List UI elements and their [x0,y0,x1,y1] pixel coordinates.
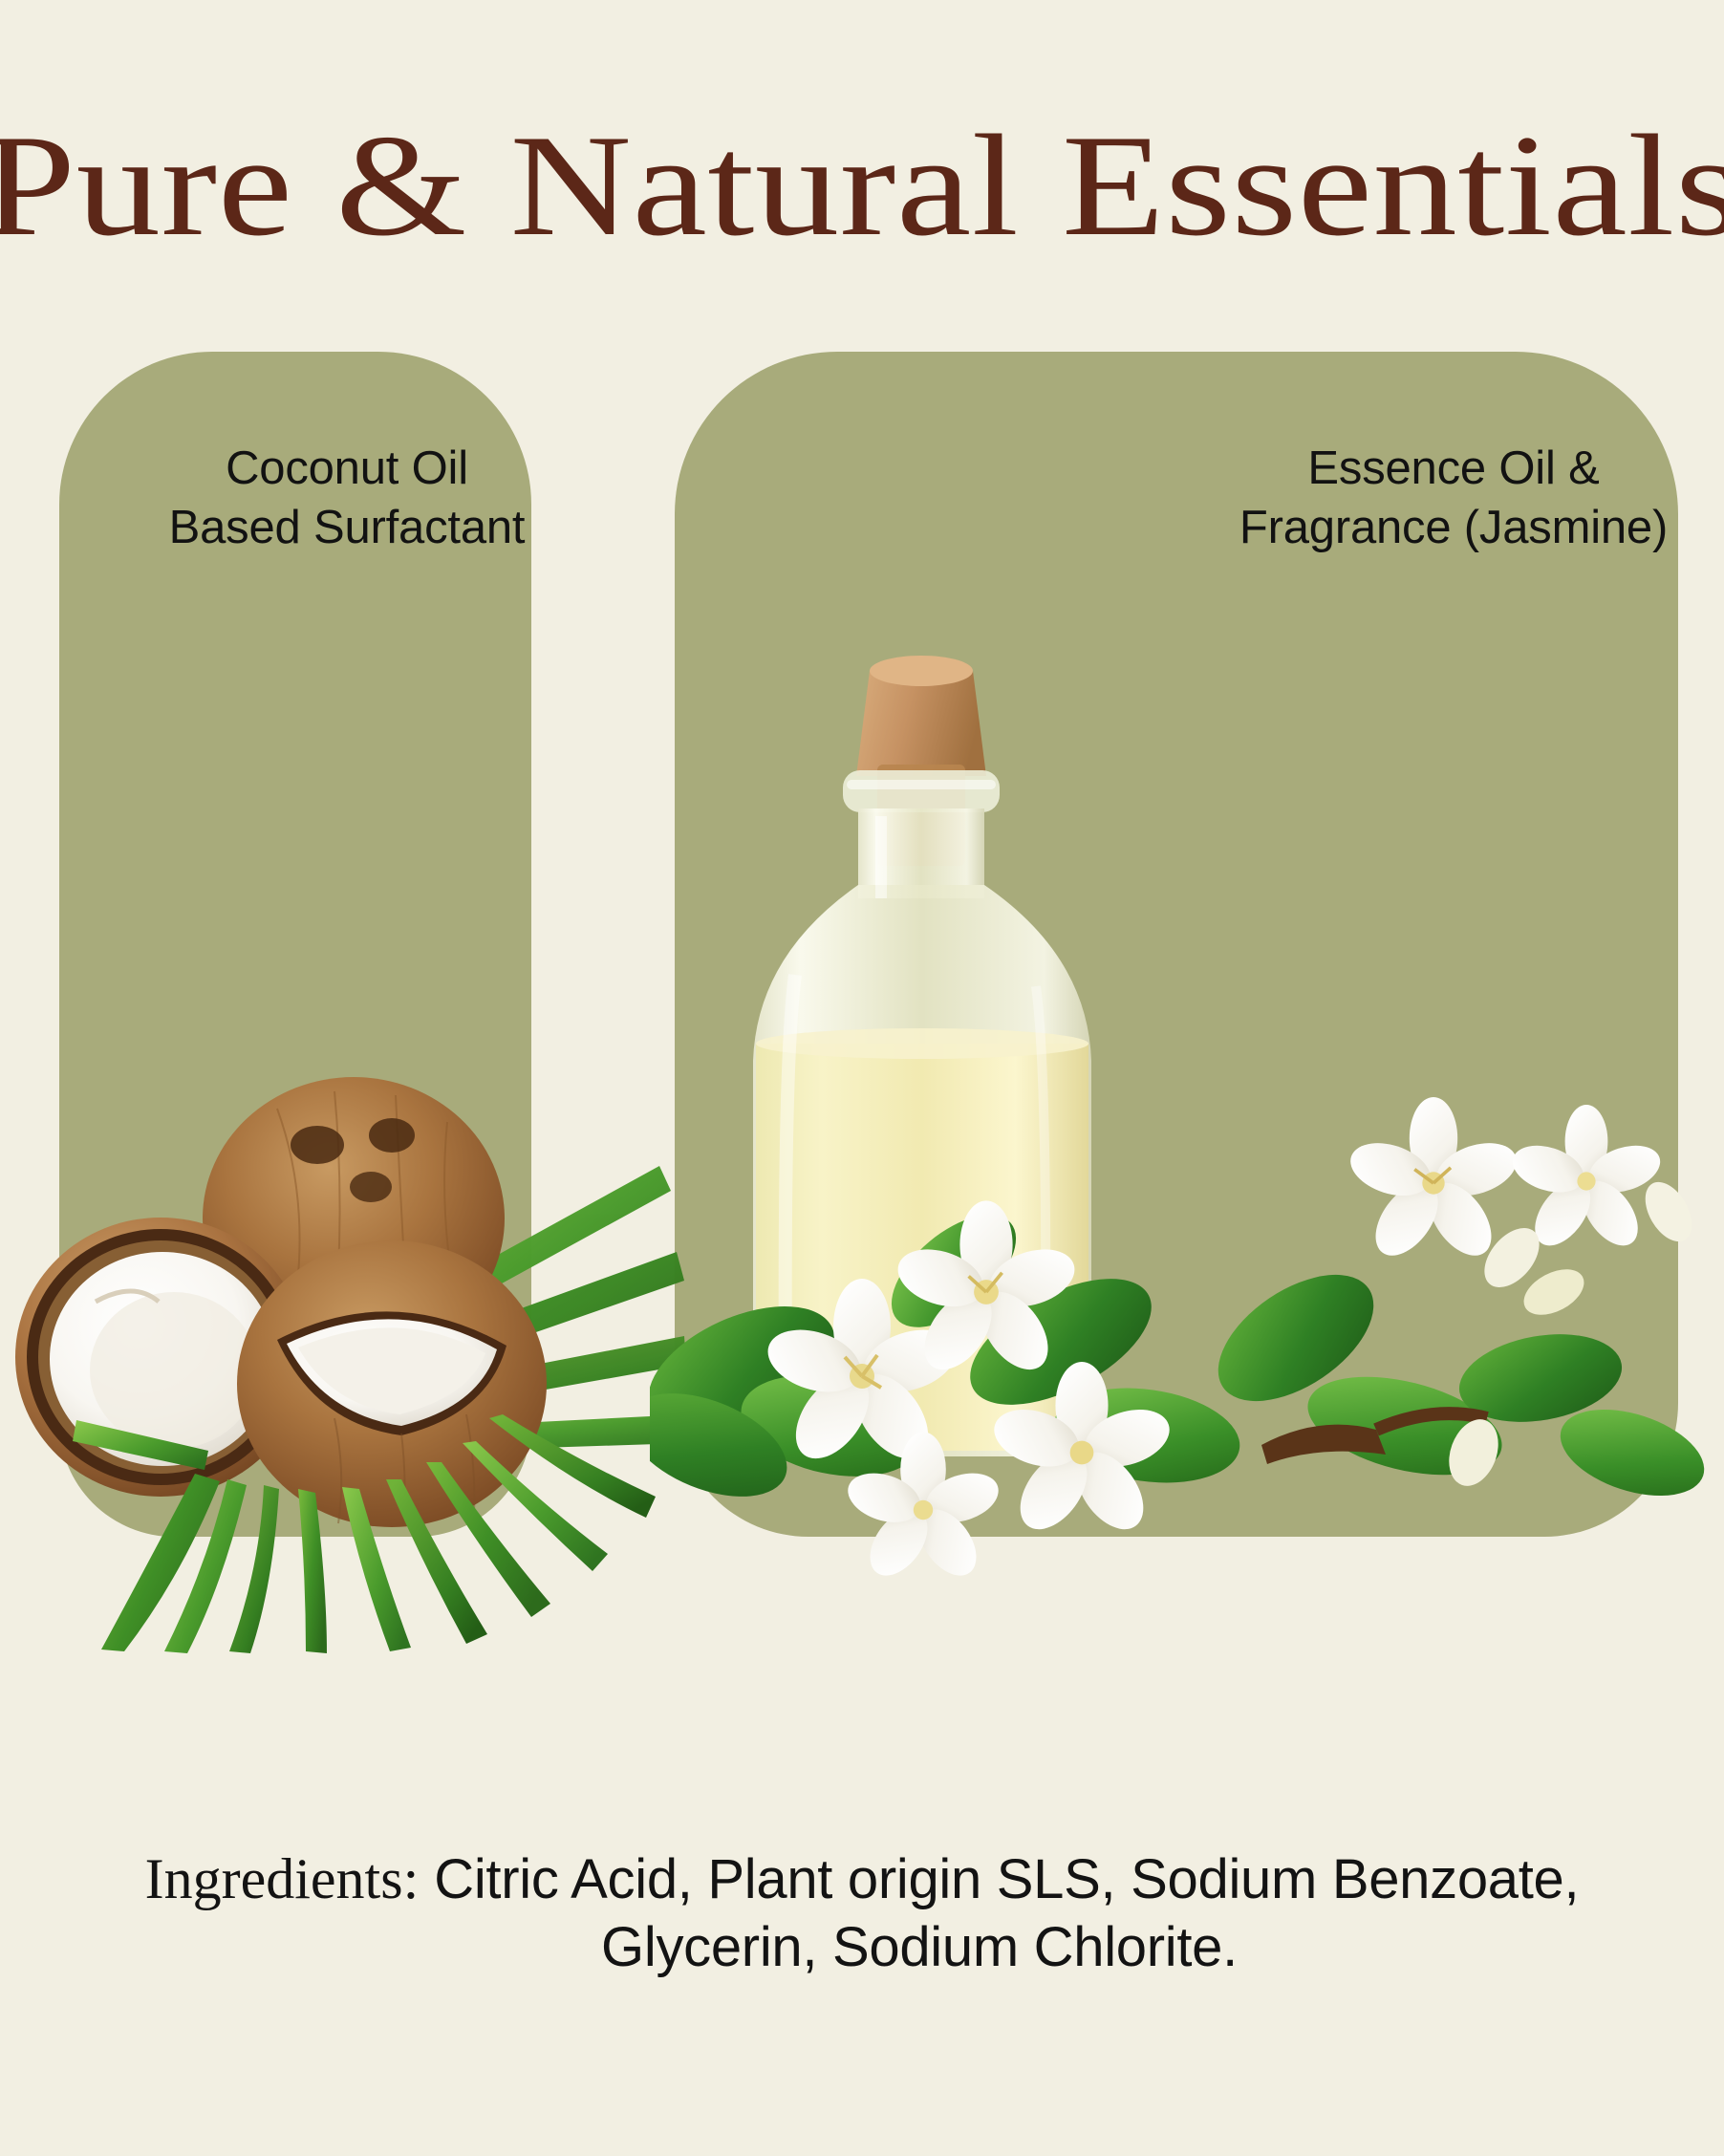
ingredients-label: Ingredients: [145,1847,435,1910]
ingredients-line-1: Ingredients:Citric Acid, Plant origin SL… [0,1844,1724,1914]
ingredient-card-coconut-label: Coconut Oil Based Surfactant [111,440,583,557]
ingredient-card-essence-label: Essence Oil & Fragrance (Jasmine) [952,440,1724,557]
page-title: Pure & Natural Essentials [0,113,1724,258]
ingredients-line-2: Glycerin, Sodium Chlorite. [0,1914,1724,1982]
ingredient-card-essence[interactable]: Essence Oil & Fragrance (Jasmine) [675,352,1678,1537]
page-title-container: Pure & Natural Essentials [0,113,1724,266]
ingredient-card-coconut[interactable]: Coconut Oil Based Surfactant [59,352,531,1537]
poster-canvas: Pure & Natural Essentials Coconut Oil Ba… [0,0,1724,2156]
ingredients-line-1-text: Citric Acid, Plant origin SLS, Sodium Be… [434,1848,1579,1910]
ingredients-block: Ingredients:Citric Acid, Plant origin SL… [0,1844,1724,1982]
